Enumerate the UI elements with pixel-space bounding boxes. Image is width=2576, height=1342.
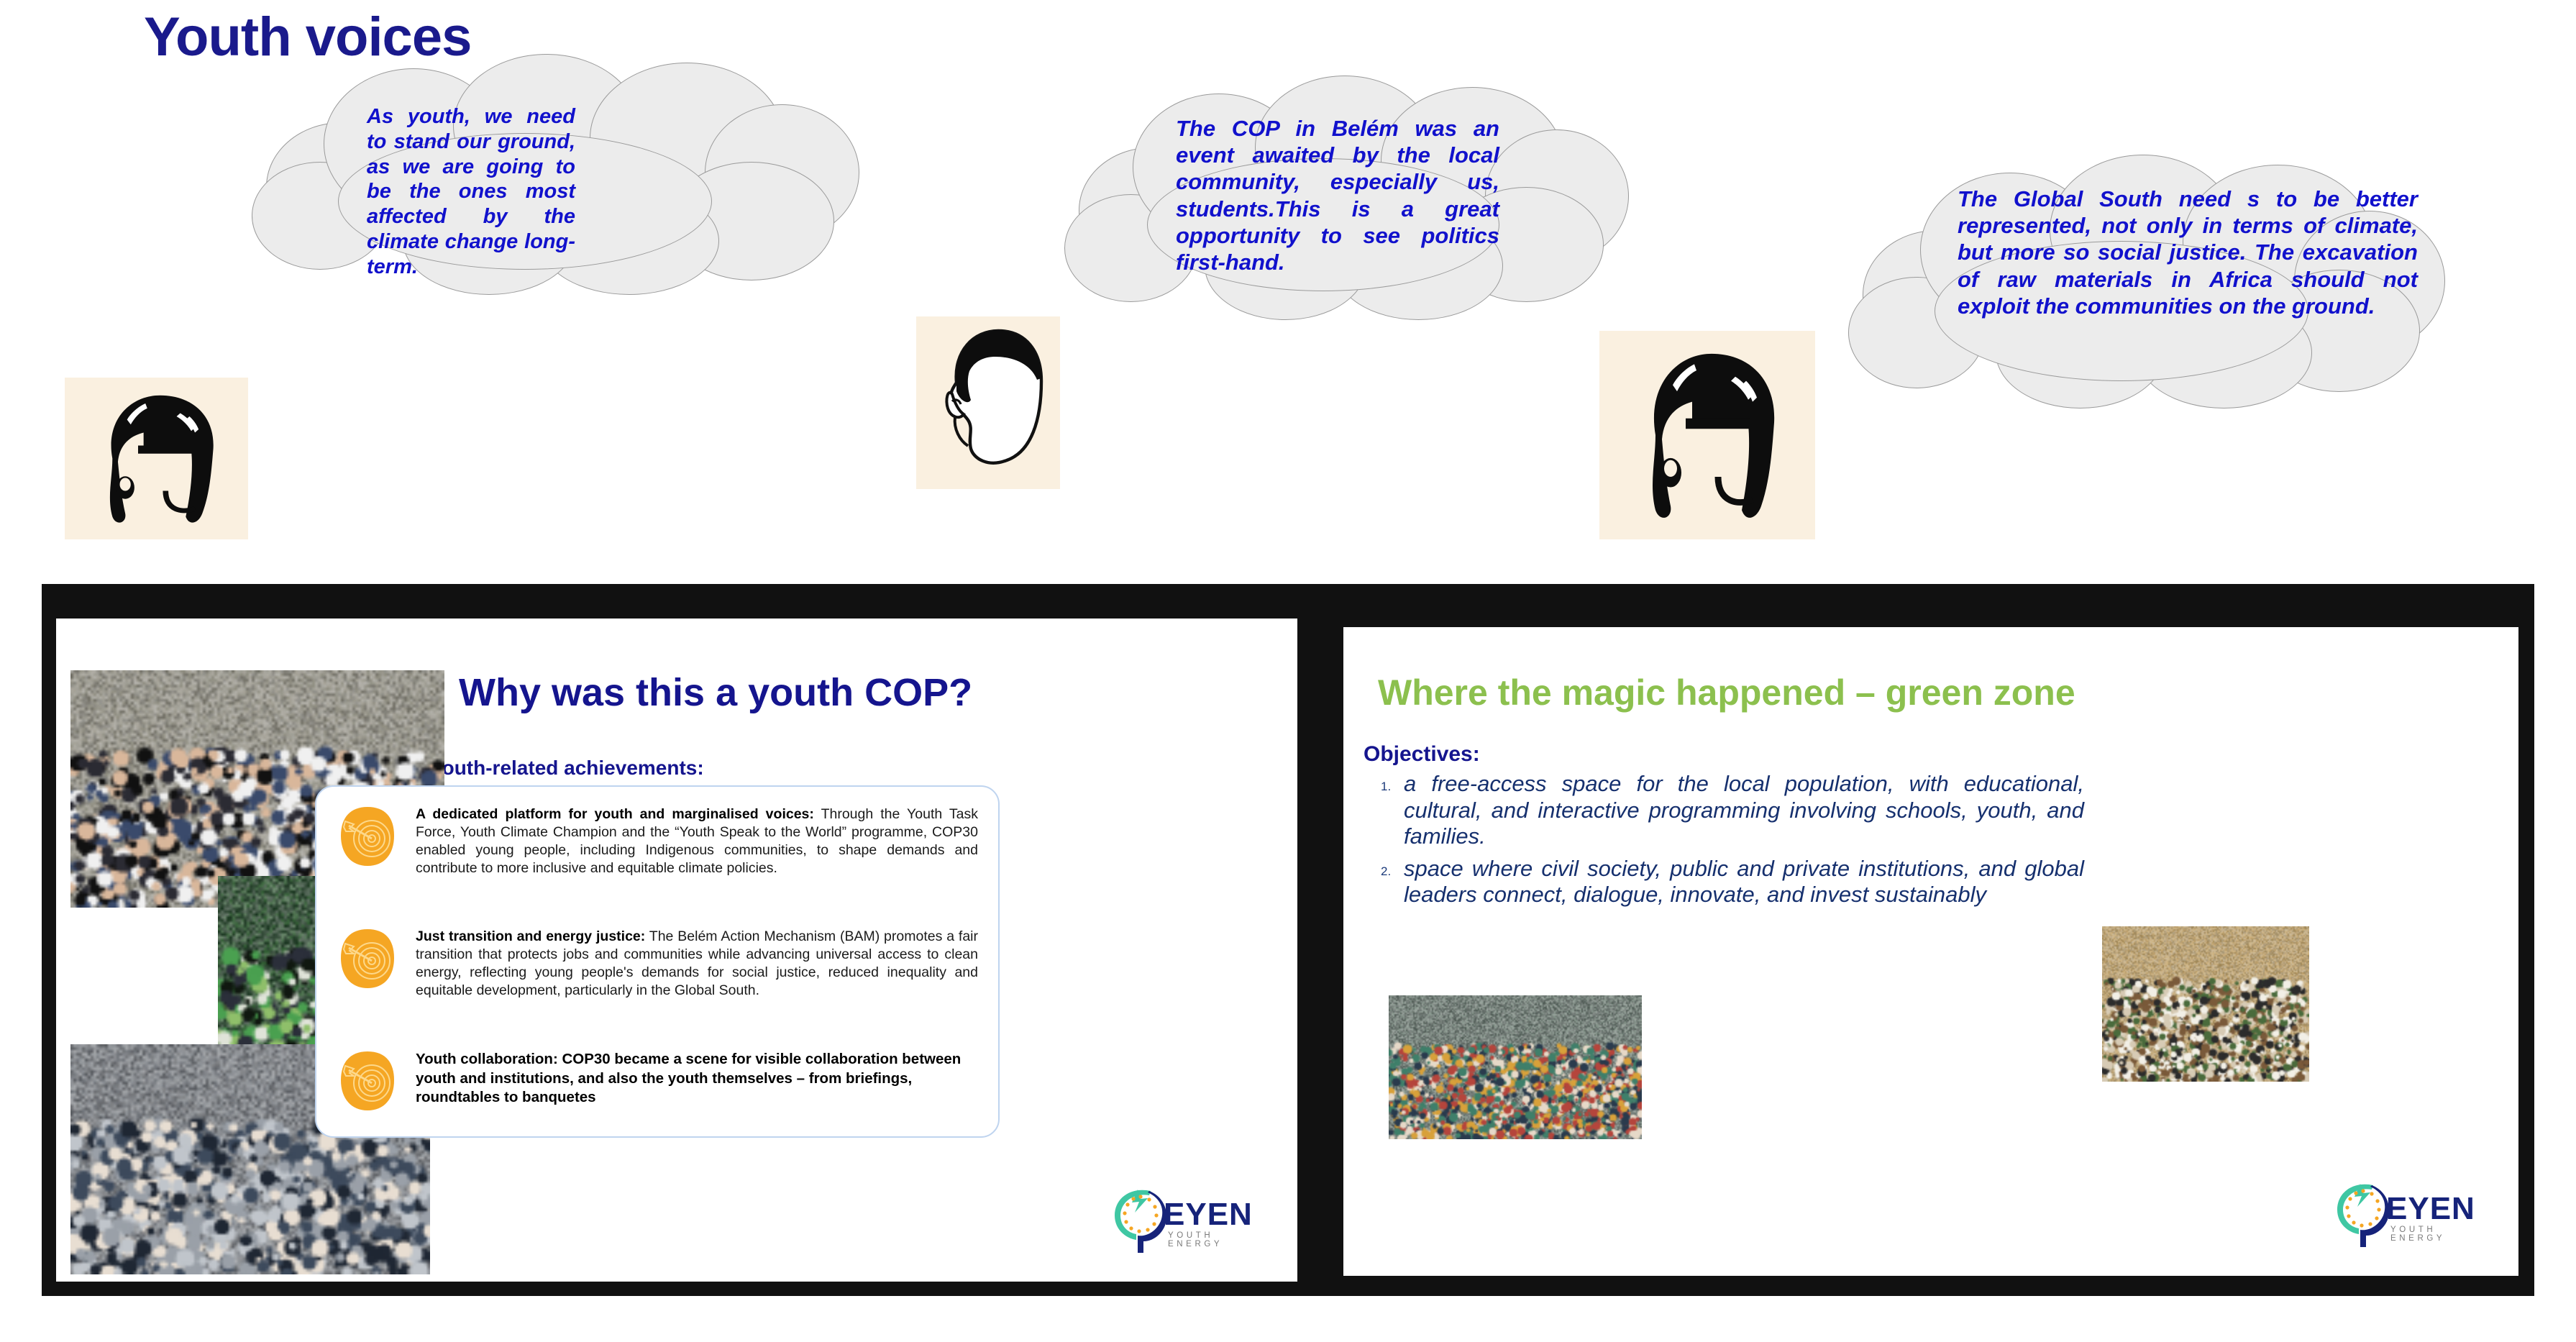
target-icon [339,1050,396,1112]
right-panel-title: Where the magic happened – green zone [1378,672,2075,713]
thought-bubble-1: As youth, we need to stand our ground, a… [237,54,870,284]
achievement-text: A dedicated platform for youth and margi… [416,805,978,877]
boy-profile-avatar [916,316,1060,489]
cop30-brasil-entrance-photo [2102,926,2309,1082]
eyen-logo-word: EYEN [2386,1191,2475,1227]
eyen-logo-tagline: YOUTH ENERGY [2390,1225,2491,1243]
thought-bubble-3: The Global South need s to be better rep… [1841,155,2459,406]
objective-number: 1. [1365,771,1404,850]
left-panel-title: Why was this a youth COP? [459,670,972,715]
objective-text: a free-access space for the local popula… [1404,771,2084,850]
thought-bubble-2: The COP in Belém was an event awaited by… [1057,76,1632,313]
eyen-logo-mark [2336,1182,2390,1249]
achievement-text: Just transition and energy justice: The … [416,928,978,1000]
right-slide-panel: Where the magic happened – green zone Ob… [1343,627,2518,1276]
target-icon [339,805,396,867]
achievement-heading: Youth collaboration: COP30 became a scen… [416,1051,961,1105]
quote-text-3: The Global South need s to be better rep… [1958,186,2418,319]
eyen-logo-word: EYEN [1164,1197,1253,1233]
achievement-text: Youth collaboration: COP30 became a scen… [416,1050,978,1112]
achievement-heading: A dedicated platform for youth and margi… [416,806,814,822]
achievement-heading: Just transition and energy justice: [416,928,645,944]
quote-text-1: As youth, we need to stand our ground, a… [367,104,575,280]
achievements-card: A dedicated platform for youth and margi… [315,785,1000,1138]
target-icon [339,928,396,990]
green-zone-crowd-photo [1389,995,1642,1139]
avatar-girl-1 [65,378,248,539]
objective-item: 1. a free-access space for the local pop… [1365,771,2084,850]
eyen-logo-tagline: YOUTH ENERGY [1168,1231,1269,1249]
achievement-item: Youth collaboration: COP30 became a scen… [339,1050,978,1112]
objective-text: space where civil society, public and pr… [1404,856,2084,908]
eyen-logo-mark [1113,1188,1168,1254]
objectives-heading: Objectives: [1364,742,1480,767]
avatar-girl-3 [1599,331,1815,539]
eyen-logo: EYEN YOUTH ENERGY [2336,1181,2491,1250]
objective-number: 2. [1365,856,1404,908]
left-panel-subtitle: Youth-related achievements: [430,757,704,780]
quote-text-2: The COP in Belém was an event awaited by… [1176,115,1499,275]
left-slide-panel: Why was this a youth COP? Youth-related … [56,618,1297,1282]
slide-frame: Why was this a youth COP? Youth-related … [42,584,2534,1296]
objectives-list: 1. a free-access space for the local pop… [1365,771,2084,914]
objective-item: 2. space where civil society, public and… [1365,856,2084,908]
eyen-logo: EYEN YOUTH ENERGY [1113,1187,1269,1256]
girl-bob-haircut-avatar [1599,331,1815,539]
slide-canvas: Youth voices As youth, we need to stand … [0,0,2576,1342]
achievement-item: A dedicated platform for youth and margi… [339,805,978,877]
achievement-item: Just transition and energy justice: The … [339,928,978,1000]
girl-bob-haircut-avatar [65,378,248,539]
avatar-boy-2 [916,316,1060,489]
